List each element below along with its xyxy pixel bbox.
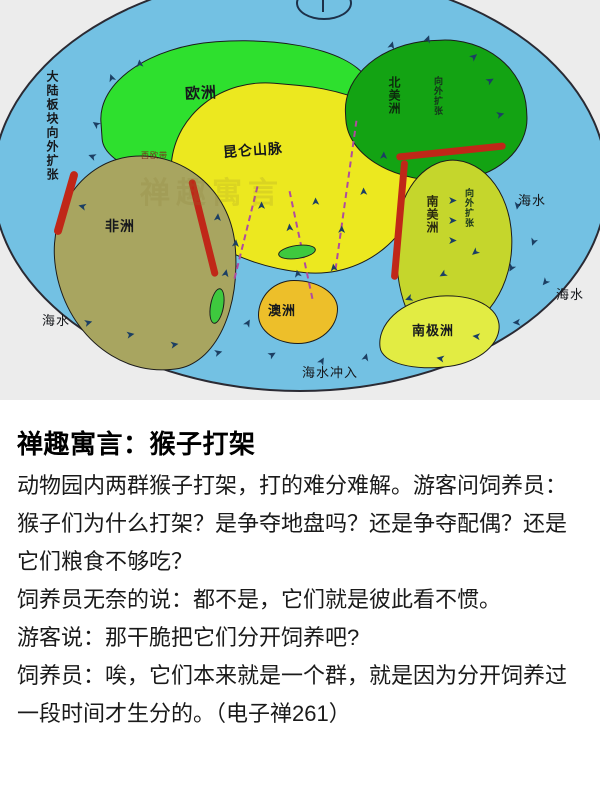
- map-label-kunlun: 昆仑山脉: [222, 138, 283, 162]
- map-label-seawater-right-upper: 海水: [518, 190, 546, 209]
- current-arrow-icon: ➤: [359, 187, 370, 197]
- current-arrow-icon: ➤: [231, 238, 243, 248]
- article-paragraph: 动物园内两群猴子打架，打的难分难解。游客问饲养员：猴子们为什么打架？是争夺地盘吗…: [17, 467, 583, 581]
- current-arrow-icon: ➤: [337, 225, 348, 235]
- current-arrow-icon: ➤: [379, 151, 390, 161]
- current-arrow-icon: ➤: [448, 236, 457, 247]
- article-hero-image: 禅趣寓言 ➤ ➤ ➤ ➤ ➤ ➤ ➤ ➤ ➤ ➤ ➤ ➤ ➤ ➤ ➤ ➤ ➤ ➤…: [0, 0, 600, 400]
- map-label-australia: 澳洲: [268, 300, 296, 319]
- article-paragraph: 饲养员：唉，它们本来就是一个群，就是因为分开饲养过一段时间才生分的。（电子禅26…: [17, 657, 583, 733]
- current-arrow-icon: ➤: [448, 216, 457, 227]
- article-paragraph: 饲养员无奈的说：都不是，它们就是彼此看不惯。: [17, 581, 583, 619]
- map-label-west-europe-belt: 西欧带: [141, 150, 168, 161]
- map-label-plate-expansion: 大陆板块向外扩张: [44, 70, 61, 182]
- article-body: 禅趣寓言：猴子打架 动物园内两群猴子打架，打的难分难解。游客问饲养员：猴子们为什…: [0, 428, 600, 733]
- map-label-seawater-inflow: 海水冲入: [302, 362, 358, 381]
- current-arrow-icon: ➤: [125, 329, 136, 341]
- map-label-antarctica: 南极洲: [412, 320, 454, 339]
- current-arrow-icon: ➤: [135, 58, 147, 68]
- current-arrow-icon: ➤: [512, 316, 522, 328]
- current-arrow-icon: ➤: [213, 212, 225, 222]
- current-arrow-icon: ➤: [220, 268, 233, 279]
- current-arrow-icon: ➤: [285, 222, 297, 232]
- map-label-na-expansion: 向外扩张: [432, 76, 445, 116]
- current-arrow-icon: ➤: [329, 262, 341, 273]
- current-arrow-icon: ➤: [472, 330, 482, 342]
- current-arrow-icon: ➤: [257, 201, 268, 210]
- current-arrow-icon: ➤: [169, 339, 180, 351]
- article-paragraph: 游客说：那干脆把它们分开饲养吧?: [17, 619, 583, 657]
- current-arrow-icon: ➤: [311, 197, 322, 207]
- map-label-africa: 非洲: [105, 216, 135, 236]
- current-arrow-icon: ➤: [448, 196, 457, 207]
- map-label-seawater-bottom-left: 海水: [42, 310, 70, 329]
- map-label-sa-expansion: 向外扩张: [463, 188, 476, 228]
- map-label-europe: 欧洲: [184, 81, 217, 104]
- map-label-south-america: 南美洲: [424, 195, 441, 234]
- current-arrow-icon: ➤: [435, 351, 446, 363]
- map-label-seawater-right-lower: 海水: [556, 284, 584, 303]
- page-title: 禅趣寓言：猴子打架: [17, 428, 583, 461]
- map-label-north-america: 北美洲: [386, 76, 403, 115]
